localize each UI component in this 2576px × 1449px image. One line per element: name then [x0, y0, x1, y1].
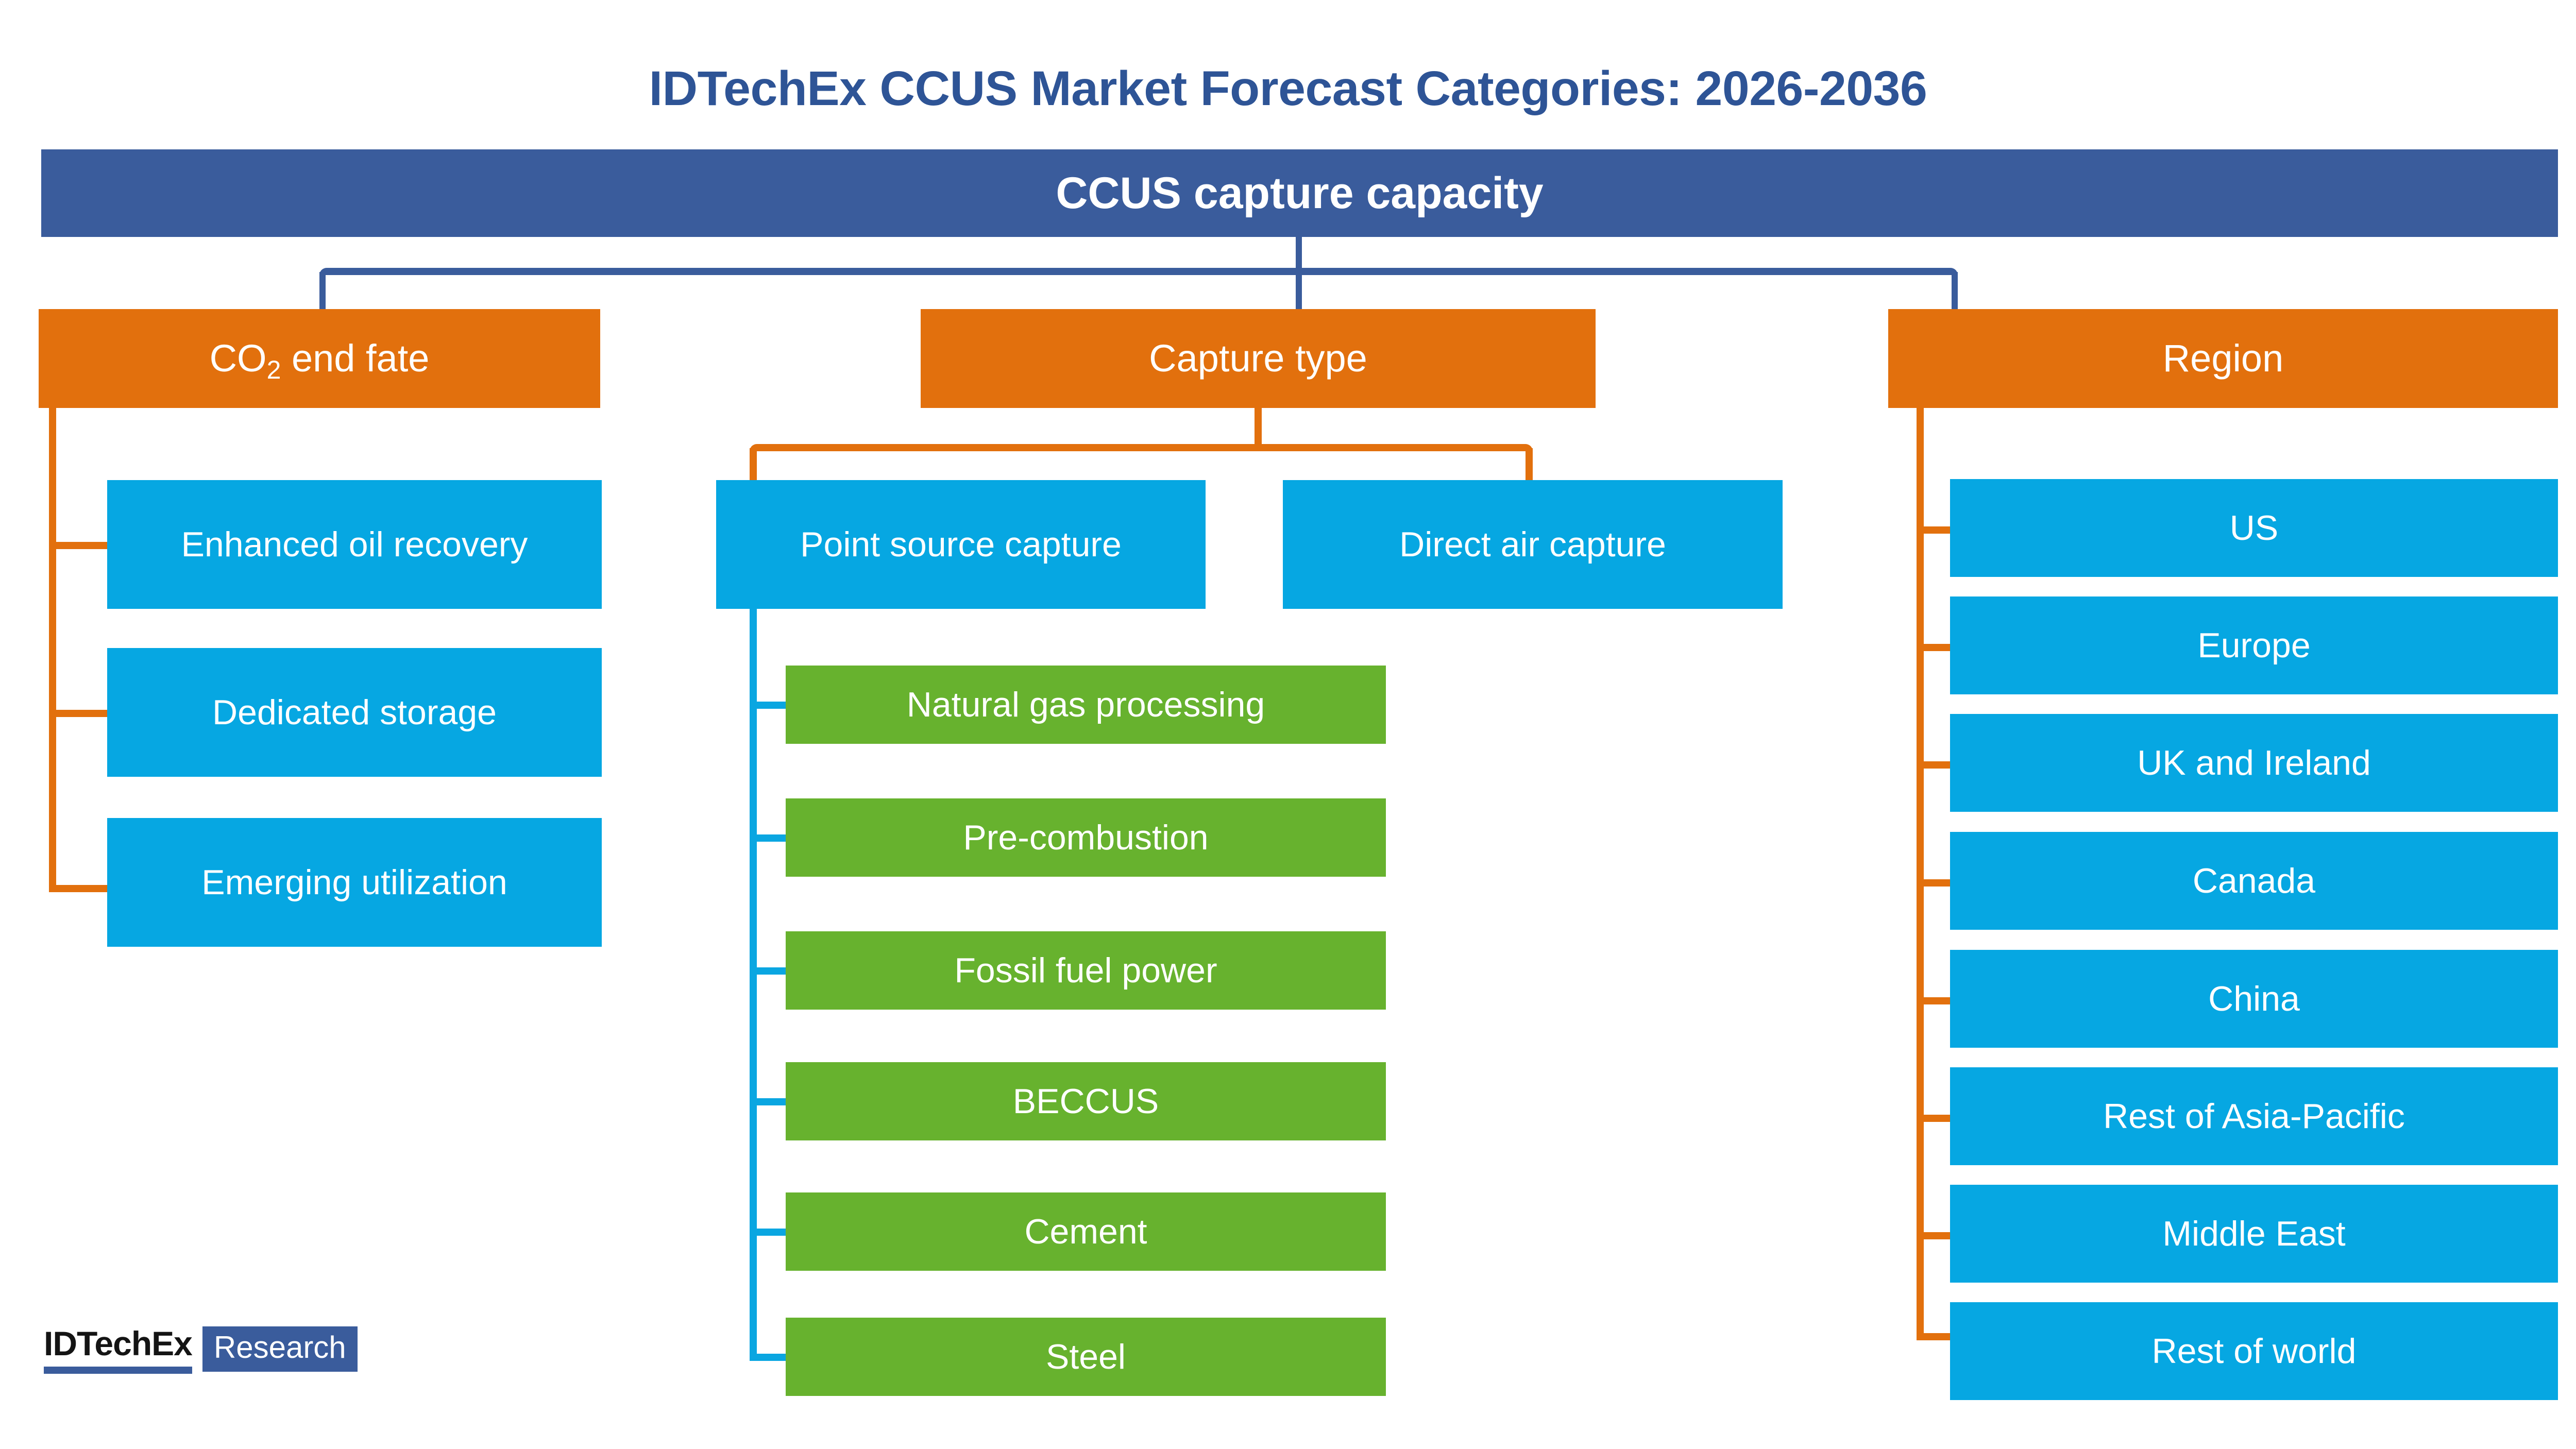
connector-capture-drop-left: [750, 448, 757, 483]
leaf-node-steel[interactable]: Steel: [786, 1318, 1386, 1396]
leaf-node-dedicated-storage[interactable]: Dedicated storage: [107, 648, 602, 777]
leaf-node-middle-east[interactable]: Middle East: [1950, 1185, 2558, 1283]
connector-co2-elbow-3: [56, 885, 113, 892]
leaf-node-label: Pre-combustion: [963, 818, 1208, 857]
leaf-node-label: Enhanced oil recovery: [181, 525, 528, 564]
leaf-node-natural-gas-processing[interactable]: Natural gas processing: [786, 666, 1386, 744]
leaf-node-us[interactable]: US: [1950, 479, 2558, 577]
page-title: IDTechEx CCUS Market Forecast Categories…: [0, 61, 2576, 117]
leaf-node-label: BECCUS: [1013, 1082, 1159, 1121]
leaf-node-label: Middle East: [2162, 1214, 2345, 1253]
leaf-node-china[interactable]: China: [1950, 950, 2558, 1048]
branch-node-label: Region: [2163, 338, 2284, 379]
leaf-node-uk-and-ireland[interactable]: UK and Ireland: [1950, 714, 2558, 812]
leaf-node-label: UK and Ireland: [2137, 743, 2371, 782]
connector-root-bus: [319, 268, 1958, 275]
leaf-node-emerging-utilization[interactable]: Emerging utilization: [107, 818, 602, 947]
leaf-node-beccus[interactable]: BECCUS: [786, 1062, 1386, 1140]
leaf-node-label: Cement: [1024, 1212, 1147, 1251]
logo-underline: [44, 1367, 192, 1374]
connector-root-drop-1: [319, 272, 326, 310]
branch-node-capture-type[interactable]: Capture type: [921, 309, 1596, 408]
leaf-node-fossil-fuel-power[interactable]: Fossil fuel power: [786, 931, 1386, 1010]
idtechex-research-logo[interactable]: IDTechEx Research: [44, 1326, 358, 1382]
leaf-node-label: Dedicated storage: [212, 693, 497, 732]
connector-co2-elbow-1: [49, 542, 113, 549]
leaf-node-label: US: [2230, 508, 2278, 548]
leaf-node-canada[interactable]: Canada: [1950, 832, 2558, 930]
logo-brand-wordmark: IDTechEx: [44, 1326, 192, 1382]
leaf-node-europe[interactable]: Europe: [1950, 596, 2558, 694]
branch-node-label: CO2 end fate: [210, 338, 430, 379]
leaf-node-label: Steel: [1046, 1337, 1126, 1376]
connector-co2-rail: [49, 408, 56, 892]
logo-research-badge: Research: [202, 1326, 358, 1372]
leaf-node-label: Emerging utilization: [201, 863, 507, 902]
leaf-node-label: Natural gas processing: [907, 685, 1265, 724]
leaf-node-label: Fossil fuel power: [954, 951, 1217, 990]
root-node-ccus-capture-capacity[interactable]: CCUS capture capacity: [41, 149, 2558, 237]
node-point-source-capture[interactable]: Point source capture: [716, 480, 1206, 609]
connector-capture-drop-right: [1526, 448, 1533, 483]
leaf-node-cement[interactable]: Cement: [786, 1192, 1386, 1271]
leaf-node-label: China: [2208, 979, 2300, 1018]
leaf-node-label: Europe: [2197, 626, 2310, 665]
leaf-node-pre-combustion[interactable]: Pre-combustion: [786, 798, 1386, 877]
branch-node-region[interactable]: Region: [1888, 309, 2558, 408]
leaf-node-rest-of-world[interactable]: Rest of world: [1950, 1302, 2558, 1400]
leaf-node-label: Rest of world: [2152, 1332, 2357, 1371]
branch-node-co2-end-fate[interactable]: CO2 end fate: [39, 309, 600, 408]
logo-research-text: Research: [214, 1330, 346, 1365]
connector-root-drop-3: [1952, 272, 1958, 310]
connector-psc-rail: [750, 609, 757, 1361]
leaf-node-label: Rest of Asia-Pacific: [2103, 1097, 2405, 1136]
branch-node-label: Capture type: [1149, 338, 1367, 379]
connector-region-rail: [1917, 408, 1924, 1340]
root-node-label: CCUS capture capacity: [1056, 168, 1543, 219]
node-label: Point source capture: [800, 525, 1122, 564]
connector-capture-bus: [750, 444, 1533, 451]
connector-root-drop-2: [1296, 272, 1302, 310]
logo-brand-text: IDTechEx: [44, 1326, 192, 1360]
leaf-node-enhanced-oil-recovery[interactable]: Enhanced oil recovery: [107, 480, 602, 609]
node-label: Direct air capture: [1399, 525, 1666, 564]
connector-co2-elbow-2: [49, 710, 113, 717]
node-direct-air-capture[interactable]: Direct air capture: [1283, 480, 1783, 609]
connector-capture-stem: [1255, 408, 1262, 449]
leaf-node-label: Canada: [2193, 861, 2315, 900]
leaf-node-rest-of-asia-pacific[interactable]: Rest of Asia-Pacific: [1950, 1067, 2558, 1165]
